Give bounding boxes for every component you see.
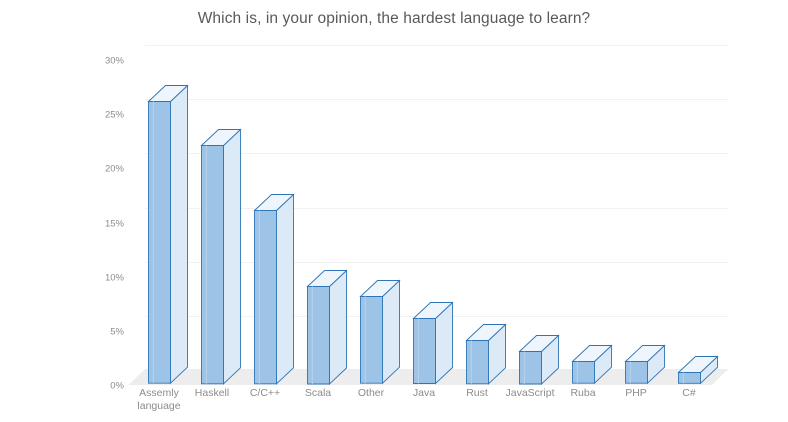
bar[interactable] — [307, 270, 348, 386]
bar[interactable] — [254, 194, 295, 385]
x-axis-tick-label: Assemly language — [133, 387, 186, 413]
x-axis-tick-label: Haskell — [186, 387, 239, 400]
x-axis-tick-label: Ruba — [557, 387, 610, 400]
y-axis-tick-label: 25% — [90, 110, 124, 121]
x-axis-tick-label: Scala — [292, 387, 345, 400]
bar[interactable] — [678, 356, 719, 385]
x-axis: Assemly languageHaskellC/C++ScalaOtherJa… — [128, 387, 728, 421]
x-axis-tick-label: Rust — [451, 387, 504, 400]
bar[interactable] — [413, 302, 454, 385]
bar[interactable] — [625, 345, 666, 385]
y-axis: 0%5%10%15%20%25%30% — [88, 45, 124, 385]
x-axis-tick-label: C/C++ — [239, 387, 292, 400]
x-axis-tick-label: C# — [663, 387, 716, 400]
chart-title: Which is, in your opinion, the hardest l… — [0, 10, 788, 28]
y-axis-tick-label: 0% — [90, 381, 124, 392]
x-axis-tick-label: JavaScript — [504, 387, 557, 400]
gridline — [144, 99, 728, 100]
gridline — [144, 45, 728, 46]
x-axis-tick-label: PHP — [610, 387, 663, 400]
x-axis-tick-label: Java — [398, 387, 451, 400]
x-axis-tick-label: Other — [345, 387, 398, 400]
y-axis-tick-label: 30% — [90, 56, 124, 67]
plot-side-wall — [128, 45, 145, 385]
plot-area — [128, 45, 728, 385]
y-axis-tick-label: 15% — [90, 218, 124, 229]
bar[interactable] — [360, 280, 401, 385]
bar[interactable] — [572, 345, 613, 385]
bar[interactable] — [519, 335, 560, 386]
y-axis-tick-label: 20% — [90, 164, 124, 175]
y-axis-tick-label: 10% — [90, 272, 124, 283]
y-axis-tick-label: 5% — [90, 326, 124, 337]
bar[interactable] — [201, 129, 242, 385]
bar[interactable] — [466, 324, 507, 385]
bar[interactable] — [148, 85, 189, 385]
chart-container: Which is, in your opinion, the hardest l… — [0, 0, 788, 422]
